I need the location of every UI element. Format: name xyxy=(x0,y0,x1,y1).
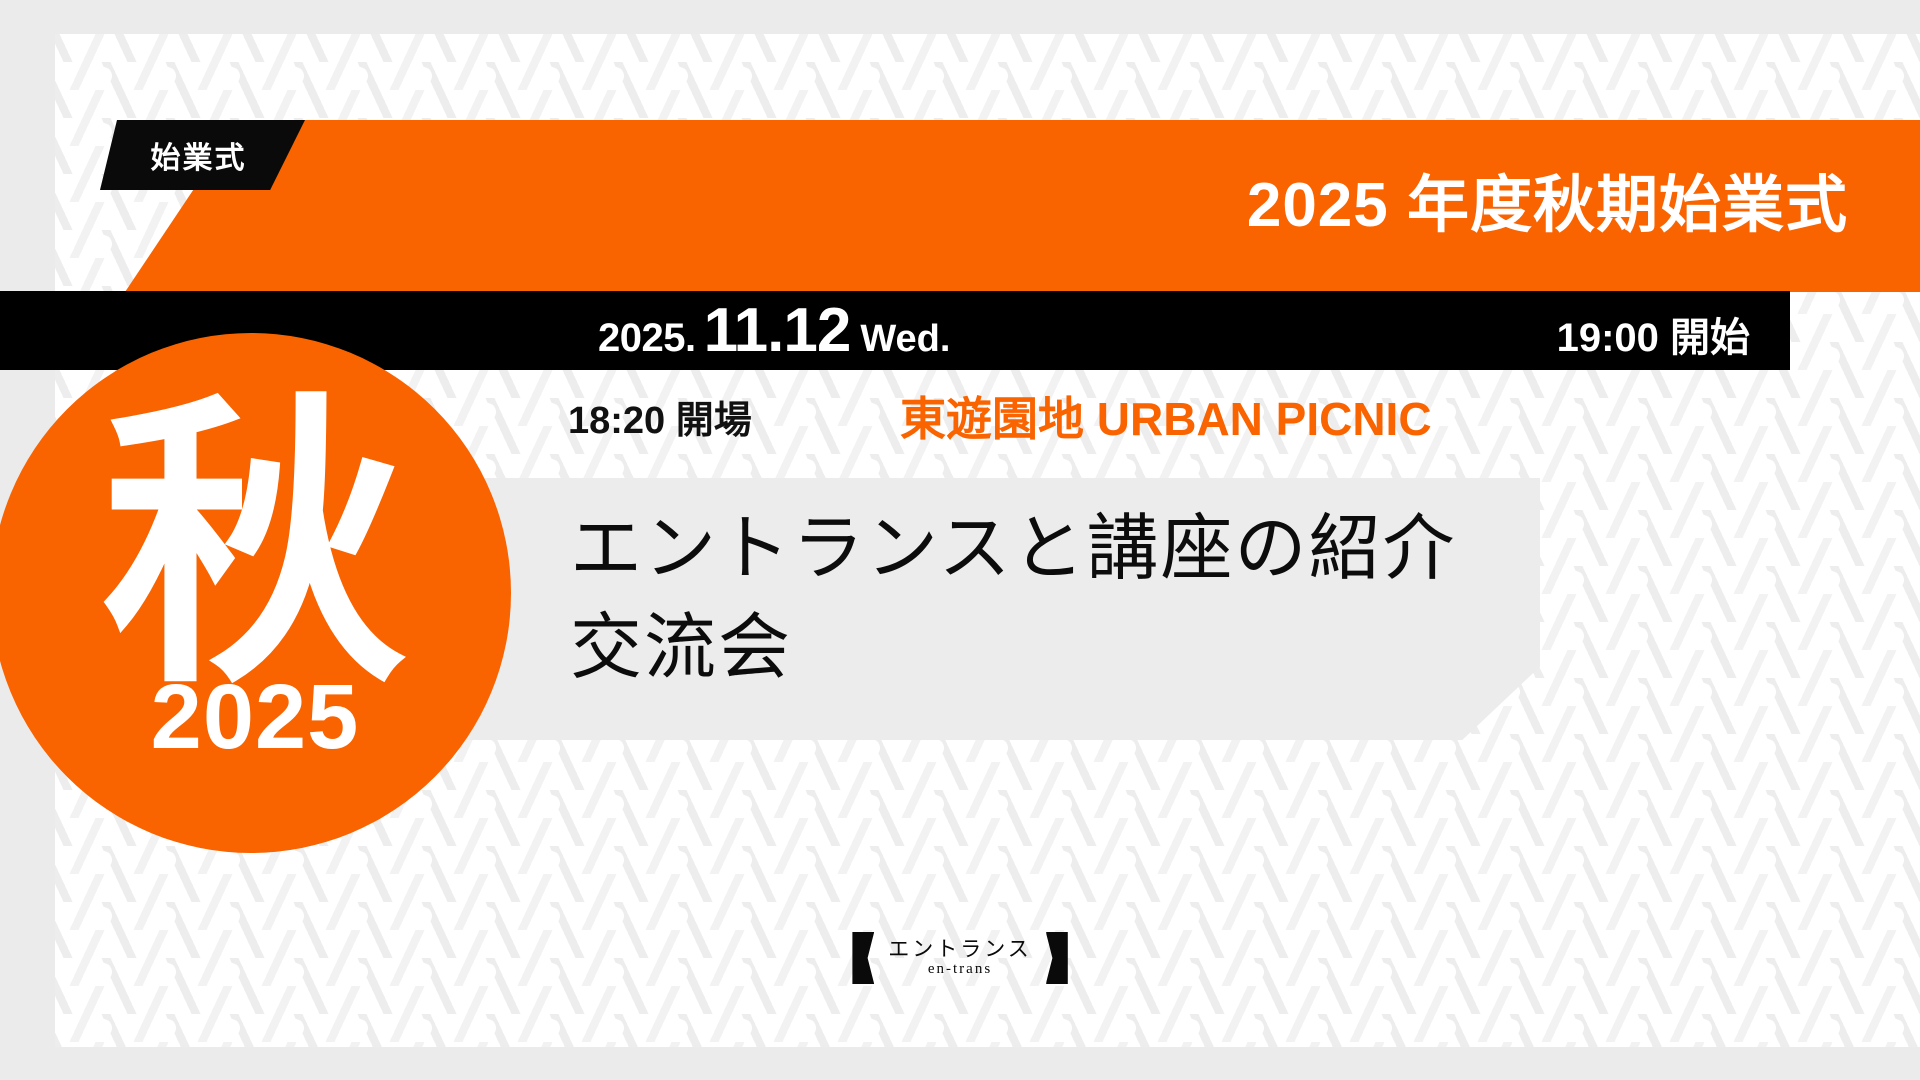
event-date-day: 11.12 xyxy=(704,300,851,362)
bracket-right-icon xyxy=(1046,932,1068,984)
organizer-logo-en: en-trans xyxy=(928,961,992,978)
event-start-time: 19:00 開始 xyxy=(1557,318,1750,358)
season-year: 2025 xyxy=(151,671,360,763)
category-badge-label: 始業式 xyxy=(151,133,247,177)
event-date-day-of-week: Wed. xyxy=(860,320,950,358)
organizer-logo: エントランス en-trans xyxy=(852,932,1068,984)
title-banner: 2025 年度秋期始業式 xyxy=(125,120,1920,292)
banner-title: 2025 年度秋期始業式 xyxy=(1247,175,1848,237)
event-date: 2025. 11.12 Wed. xyxy=(598,300,950,362)
season-circle: 秋 2025 xyxy=(0,333,511,853)
poster-stage: 2025 年度秋期始業式 始業式 2025. 11.12 Wed. 19:00 … xyxy=(0,0,1920,1080)
event-open-time: 18:20 開場 xyxy=(568,402,752,440)
event-venue: 東遊園地 URBAN PICNIC xyxy=(900,396,1432,442)
event-heading: エントランスと講座の紹介 交流会 xyxy=(570,500,1457,699)
season-kanji: 秋 xyxy=(102,417,407,676)
organizer-logo-words: エントランス en-trans xyxy=(888,938,1032,978)
organizer-logo-jp: エントランス xyxy=(888,938,1032,961)
category-badge: 始業式 xyxy=(100,120,305,190)
bracket-left-icon xyxy=(852,932,874,984)
event-date-year: 2025. xyxy=(598,318,696,358)
